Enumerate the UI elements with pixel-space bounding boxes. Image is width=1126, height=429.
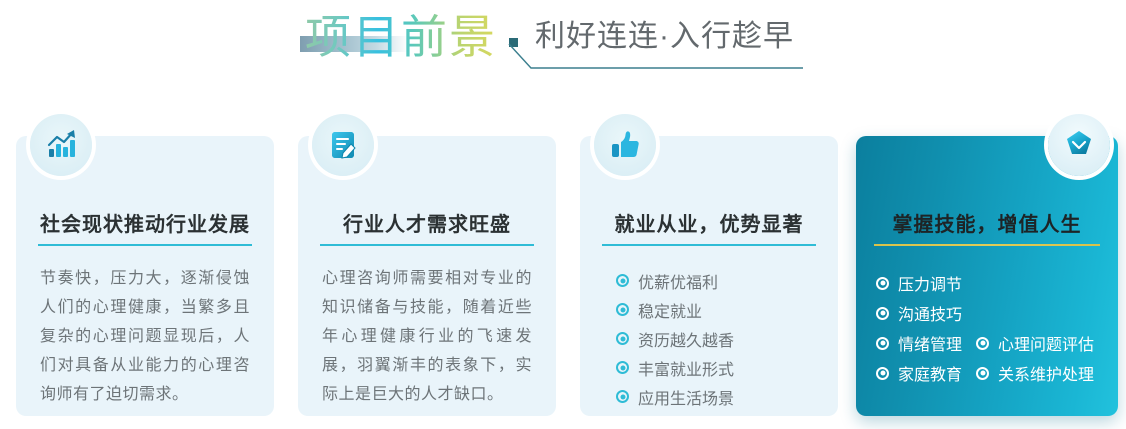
bullet-dot-icon (616, 303, 629, 316)
card-title-rule (320, 244, 534, 246)
page-header: 项目前景 利好连连·入行趁早 (0, 0, 1126, 100)
card-title: 就业从业，优势显著 (580, 208, 838, 237)
feature-card-3[interactable]: 就业从业，优势显著 优薪优福利 稳定就业 资历越久越香 丰富就业形式 应用生活场… (580, 136, 838, 416)
diamond-gem-icon (1048, 114, 1110, 176)
list-item-label: 心理问题评估 (998, 331, 1094, 355)
card-title-rule (602, 244, 816, 246)
list-item-label: 优薪优福利 (638, 269, 718, 293)
list-item-label: 资历越久越香 (638, 327, 734, 351)
list-item-label: 沟通技巧 (898, 301, 962, 325)
list-item-label: 压力调节 (898, 271, 962, 295)
card-body-text: 心理咨询师需要相对专业的知识储备与技能，随着近些年心理健康行业的飞速发展，羽翼渐… (322, 264, 532, 409)
card-body-text: 节奏快，压力大，逐渐侵蚀人们的心理健康，当繁多且复杂的心理问题显现后，人们对具备… (40, 264, 250, 409)
title-decoration (497, 6, 533, 68)
bullet-dot-icon (616, 361, 629, 374)
grid-spacer (976, 298, 1094, 328)
list-item[interactable]: 稳定就业 (616, 295, 824, 324)
growth-chart-icon (30, 114, 92, 176)
grid-spacer (976, 268, 1094, 298)
bullet-dot-icon (876, 367, 889, 380)
list-item[interactable]: 丰富就业形式 (616, 353, 824, 382)
bullet-dot-icon (616, 390, 629, 403)
list-item[interactable]: 情绪管理 (876, 328, 962, 358)
list-item[interactable]: 家庭教育 (876, 358, 962, 388)
main-title-wrap: 项目前景 (305, 6, 497, 68)
bullet-dot-icon (616, 274, 629, 287)
card-title-rule (874, 244, 1100, 246)
card-title-rule (38, 244, 252, 246)
list-item[interactable]: 压力调节 (876, 268, 962, 298)
list-item[interactable]: 应用生活场景 (616, 382, 824, 411)
list-item-label: 应用生活场景 (638, 385, 734, 409)
bullet-dot-icon (876, 337, 889, 350)
list-item[interactable]: 关系维护处理 (976, 358, 1094, 388)
bullet-dot-icon (976, 367, 989, 380)
feature-cards-row: 社会现状推动行业发展 节奏快，压力大，逐渐侵蚀人们的心理健康，当繁多且复杂的心理… (0, 108, 1126, 420)
angled-rule-icon (507, 42, 807, 74)
bullet-dot-icon (616, 332, 629, 345)
list-item-label: 稳定就业 (638, 298, 702, 322)
card-bullet-list: 优薪优福利 稳定就业 资历越久越香 丰富就业形式 应用生活场景 (616, 266, 824, 411)
list-item[interactable]: 优薪优福利 (616, 266, 824, 295)
card-bullet-grid: 压力调节 沟通技巧 情绪管理 心理问题评估 家庭教育 关系维护处理 (876, 268, 1108, 388)
card-title: 行业人才需求旺盛 (298, 208, 556, 237)
list-item-label: 关系维护处理 (998, 361, 1094, 385)
list-item-label: 家庭教育 (898, 361, 962, 385)
list-item[interactable]: 心理问题评估 (976, 328, 1094, 358)
bullet-dot-icon (976, 337, 989, 350)
feature-card-4[interactable]: 掌握技能，增值人生 压力调节 沟通技巧 情绪管理 心理问题评估 家庭教育 关系维… (856, 136, 1118, 416)
card-title: 掌握技能，增值人生 (856, 208, 1118, 237)
bullet-dot-icon (876, 277, 889, 290)
list-item[interactable]: 沟通技巧 (876, 298, 962, 328)
list-item[interactable]: 资历越久越香 (616, 324, 824, 353)
list-item-label: 情绪管理 (898, 331, 962, 355)
thumbs-up-icon (594, 114, 656, 176)
bullet-dot-icon (876, 307, 889, 320)
card-title: 社会现状推动行业发展 (16, 208, 274, 237)
page-title: 项目前景 (305, 6, 497, 68)
feature-card-1[interactable]: 社会现状推动行业发展 节奏快，压力大，逐渐侵蚀人们的心理健康，当繁多且复杂的心理… (16, 136, 274, 416)
header-inner: 项目前景 利好连连·入行趁早 (305, 6, 794, 76)
list-item-label: 丰富就业形式 (638, 356, 734, 380)
document-pencil-icon (312, 114, 374, 176)
feature-card-2[interactable]: 行业人才需求旺盛 心理咨询师需要相对专业的知识储备与技能，随着近些年心理健康行业… (298, 136, 556, 416)
